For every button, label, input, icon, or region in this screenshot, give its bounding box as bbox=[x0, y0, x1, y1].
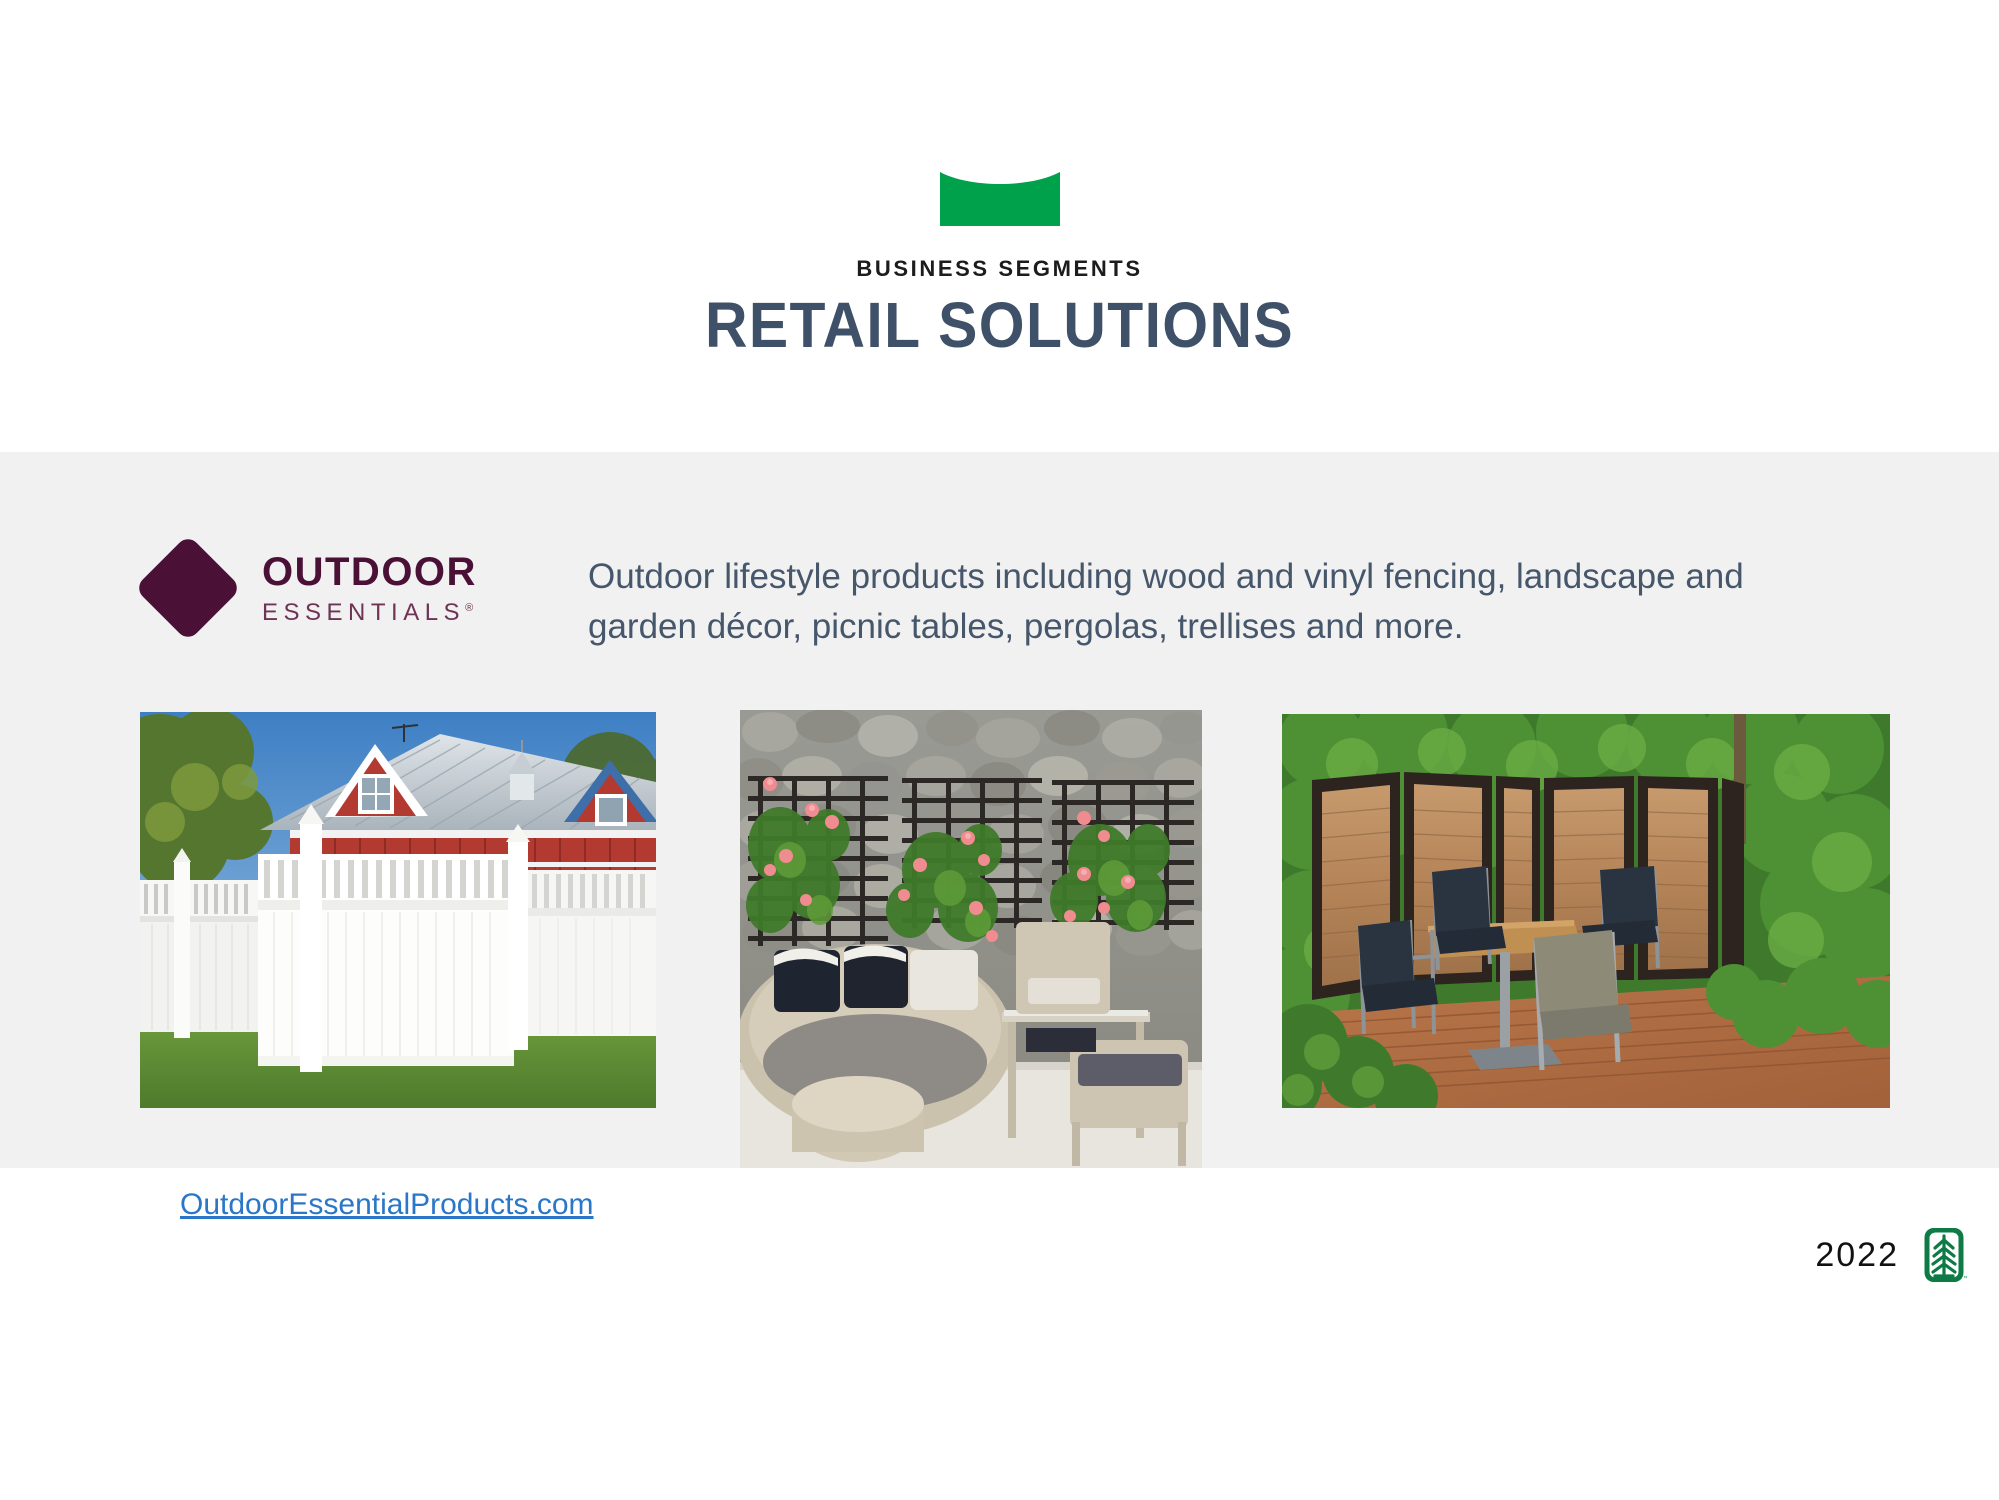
registered-trademark-mark: ® bbox=[465, 602, 473, 614]
logo-word-essentials: ESSENTIALS® bbox=[262, 601, 477, 625]
year-label: 2022 bbox=[1815, 1236, 1899, 1275]
green-curved-banner-mark bbox=[940, 172, 1060, 226]
trademark-symbol: ™ bbox=[1963, 1275, 1967, 1282]
content-band: OUTDOOR ESSENTIALS® Outdoor lifestyle pr… bbox=[0, 452, 1999, 1168]
page-title: RETAIL SOLUTIONS bbox=[80, 288, 1919, 362]
footer-right: 2022 ™ bbox=[1815, 1228, 1967, 1282]
logo-word-outdoor: OUTDOOR bbox=[262, 552, 477, 592]
eyebrow-label: BUSINESS SEGMENTS bbox=[0, 256, 1999, 282]
outdoor-essentials-logo: OUTDOOR ESSENTIALS® bbox=[136, 524, 477, 652]
photo-vinyl-fence bbox=[140, 712, 656, 1108]
slide: BUSINESS SEGMENTS RETAIL SOLUTIONS bbox=[0, 0, 1999, 1500]
ufp-tree-logo-icon: ™ bbox=[1921, 1228, 1967, 1282]
segment-description: Outdoor lifestyle products including woo… bbox=[588, 552, 1798, 651]
outdoor-essentials-diamond-icon bbox=[136, 524, 240, 652]
logo-wordmark: OUTDOOR ESSENTIALS® bbox=[262, 552, 477, 625]
photo-trellis-patio bbox=[740, 710, 1202, 1168]
photo-privacy-screen bbox=[1282, 714, 1890, 1108]
slide-header: BUSINESS SEGMENTS RETAIL SOLUTIONS bbox=[0, 0, 1999, 452]
site-link[interactable]: OutdoorEssentialProducts.com bbox=[180, 1188, 594, 1222]
